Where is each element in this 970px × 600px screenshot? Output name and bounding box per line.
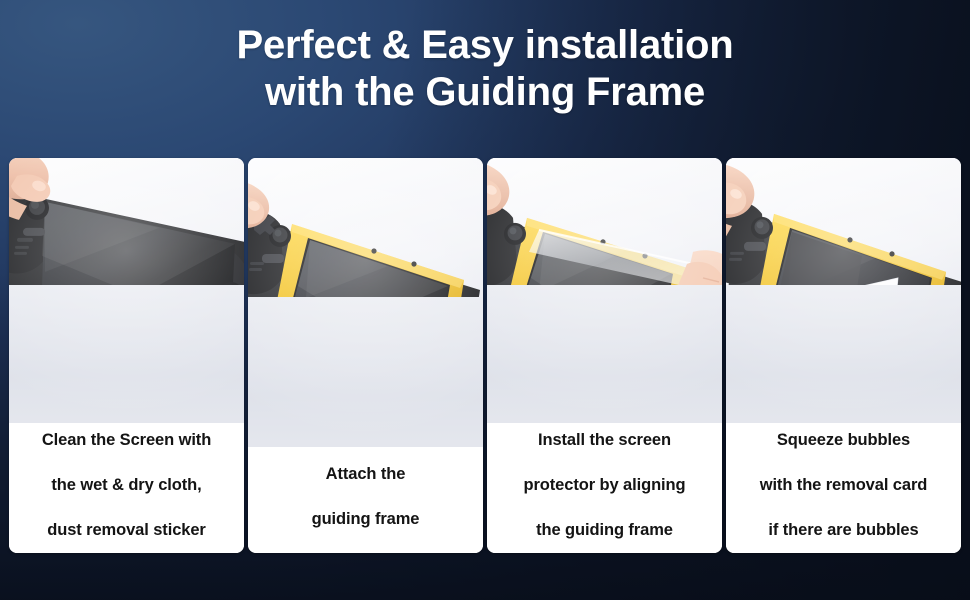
caption-line: Install the screen: [524, 429, 686, 451]
caption-line: dust removal sticker: [42, 519, 211, 541]
page-title-line2: with the Guiding Frame: [0, 69, 970, 116]
step-card-1: Clean the Screen with the wet & dry clot…: [9, 158, 244, 553]
page-title-line1: Perfect & Easy installation: [236, 23, 733, 67]
step-image-1: [9, 158, 244, 423]
caption-text: Squeeze bubbles with the removal card if…: [760, 429, 928, 541]
step-caption-2: Attach the guiding frame: [248, 447, 483, 553]
caption-line: Clean the Screen with: [42, 429, 211, 451]
caption-line: Attach the: [312, 463, 420, 485]
page-title: Perfect & Easy installation with the Gui…: [0, 22, 970, 116]
caption-text: Install the screen protector by aligning…: [524, 429, 686, 541]
photo-vignette: [487, 158, 722, 423]
caption-line: guiding frame: [312, 508, 420, 530]
step-image-4: [726, 158, 961, 423]
photo-vignette: [9, 158, 244, 423]
caption-line: protector by aligning: [524, 474, 686, 496]
step-caption-1: Clean the Screen with the wet & dry clot…: [9, 423, 244, 553]
photo-vignette: [726, 158, 961, 423]
caption-line: with the removal card: [760, 474, 928, 496]
steps-row: Clean the Screen with the wet & dry clot…: [9, 158, 961, 553]
step-card-2: Attach the guiding frame: [248, 158, 483, 553]
step-card-3: Install the screen protector by aligning…: [487, 158, 722, 553]
promo-banner: Perfect & Easy installation with the Gui…: [0, 0, 970, 600]
caption-line: the wet & dry cloth,: [42, 474, 211, 496]
caption-line: the guiding frame: [524, 519, 686, 541]
step-card-4: Squeeze bubbles with the removal card if…: [726, 158, 961, 553]
caption-line: if there are bubbles: [760, 519, 928, 541]
photo-vignette: [248, 158, 483, 447]
step-image-2: [248, 158, 483, 447]
step-caption-3: Install the screen protector by aligning…: [487, 423, 722, 553]
caption-text: Clean the Screen with the wet & dry clot…: [42, 429, 211, 541]
step-image-3: [487, 158, 722, 423]
step-caption-4: Squeeze bubbles with the removal card if…: [726, 423, 961, 553]
caption-line: Squeeze bubbles: [760, 429, 928, 451]
caption-text: Attach the guiding frame: [312, 463, 420, 530]
